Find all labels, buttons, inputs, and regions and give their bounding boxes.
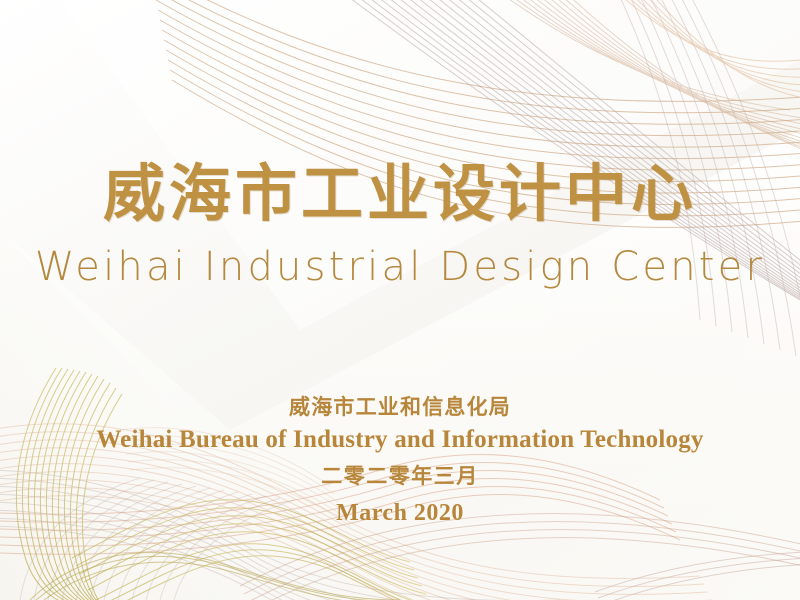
title-slide: 威海市工业设计中心 Weihai Industrial Design Cente… (0, 0, 800, 600)
footer-block: 威海市工业和信息化局 Weihai Bureau of Industry and… (0, 392, 800, 532)
slide-content: 威海市工业设计中心 Weihai Industrial Design Cente… (0, 0, 800, 600)
date-chinese: 二零二零年三月 (0, 458, 800, 494)
date-english: March 2020 (0, 494, 800, 532)
page-title-chinese: 威海市工业设计中心 (0, 158, 800, 230)
organization-name-chinese: 威海市工业和信息化局 (0, 392, 800, 422)
organization-name-english: Weihai Bureau of Industry and Informatio… (0, 422, 800, 458)
page-title-english: Weihai Industrial Design Center (0, 243, 800, 291)
